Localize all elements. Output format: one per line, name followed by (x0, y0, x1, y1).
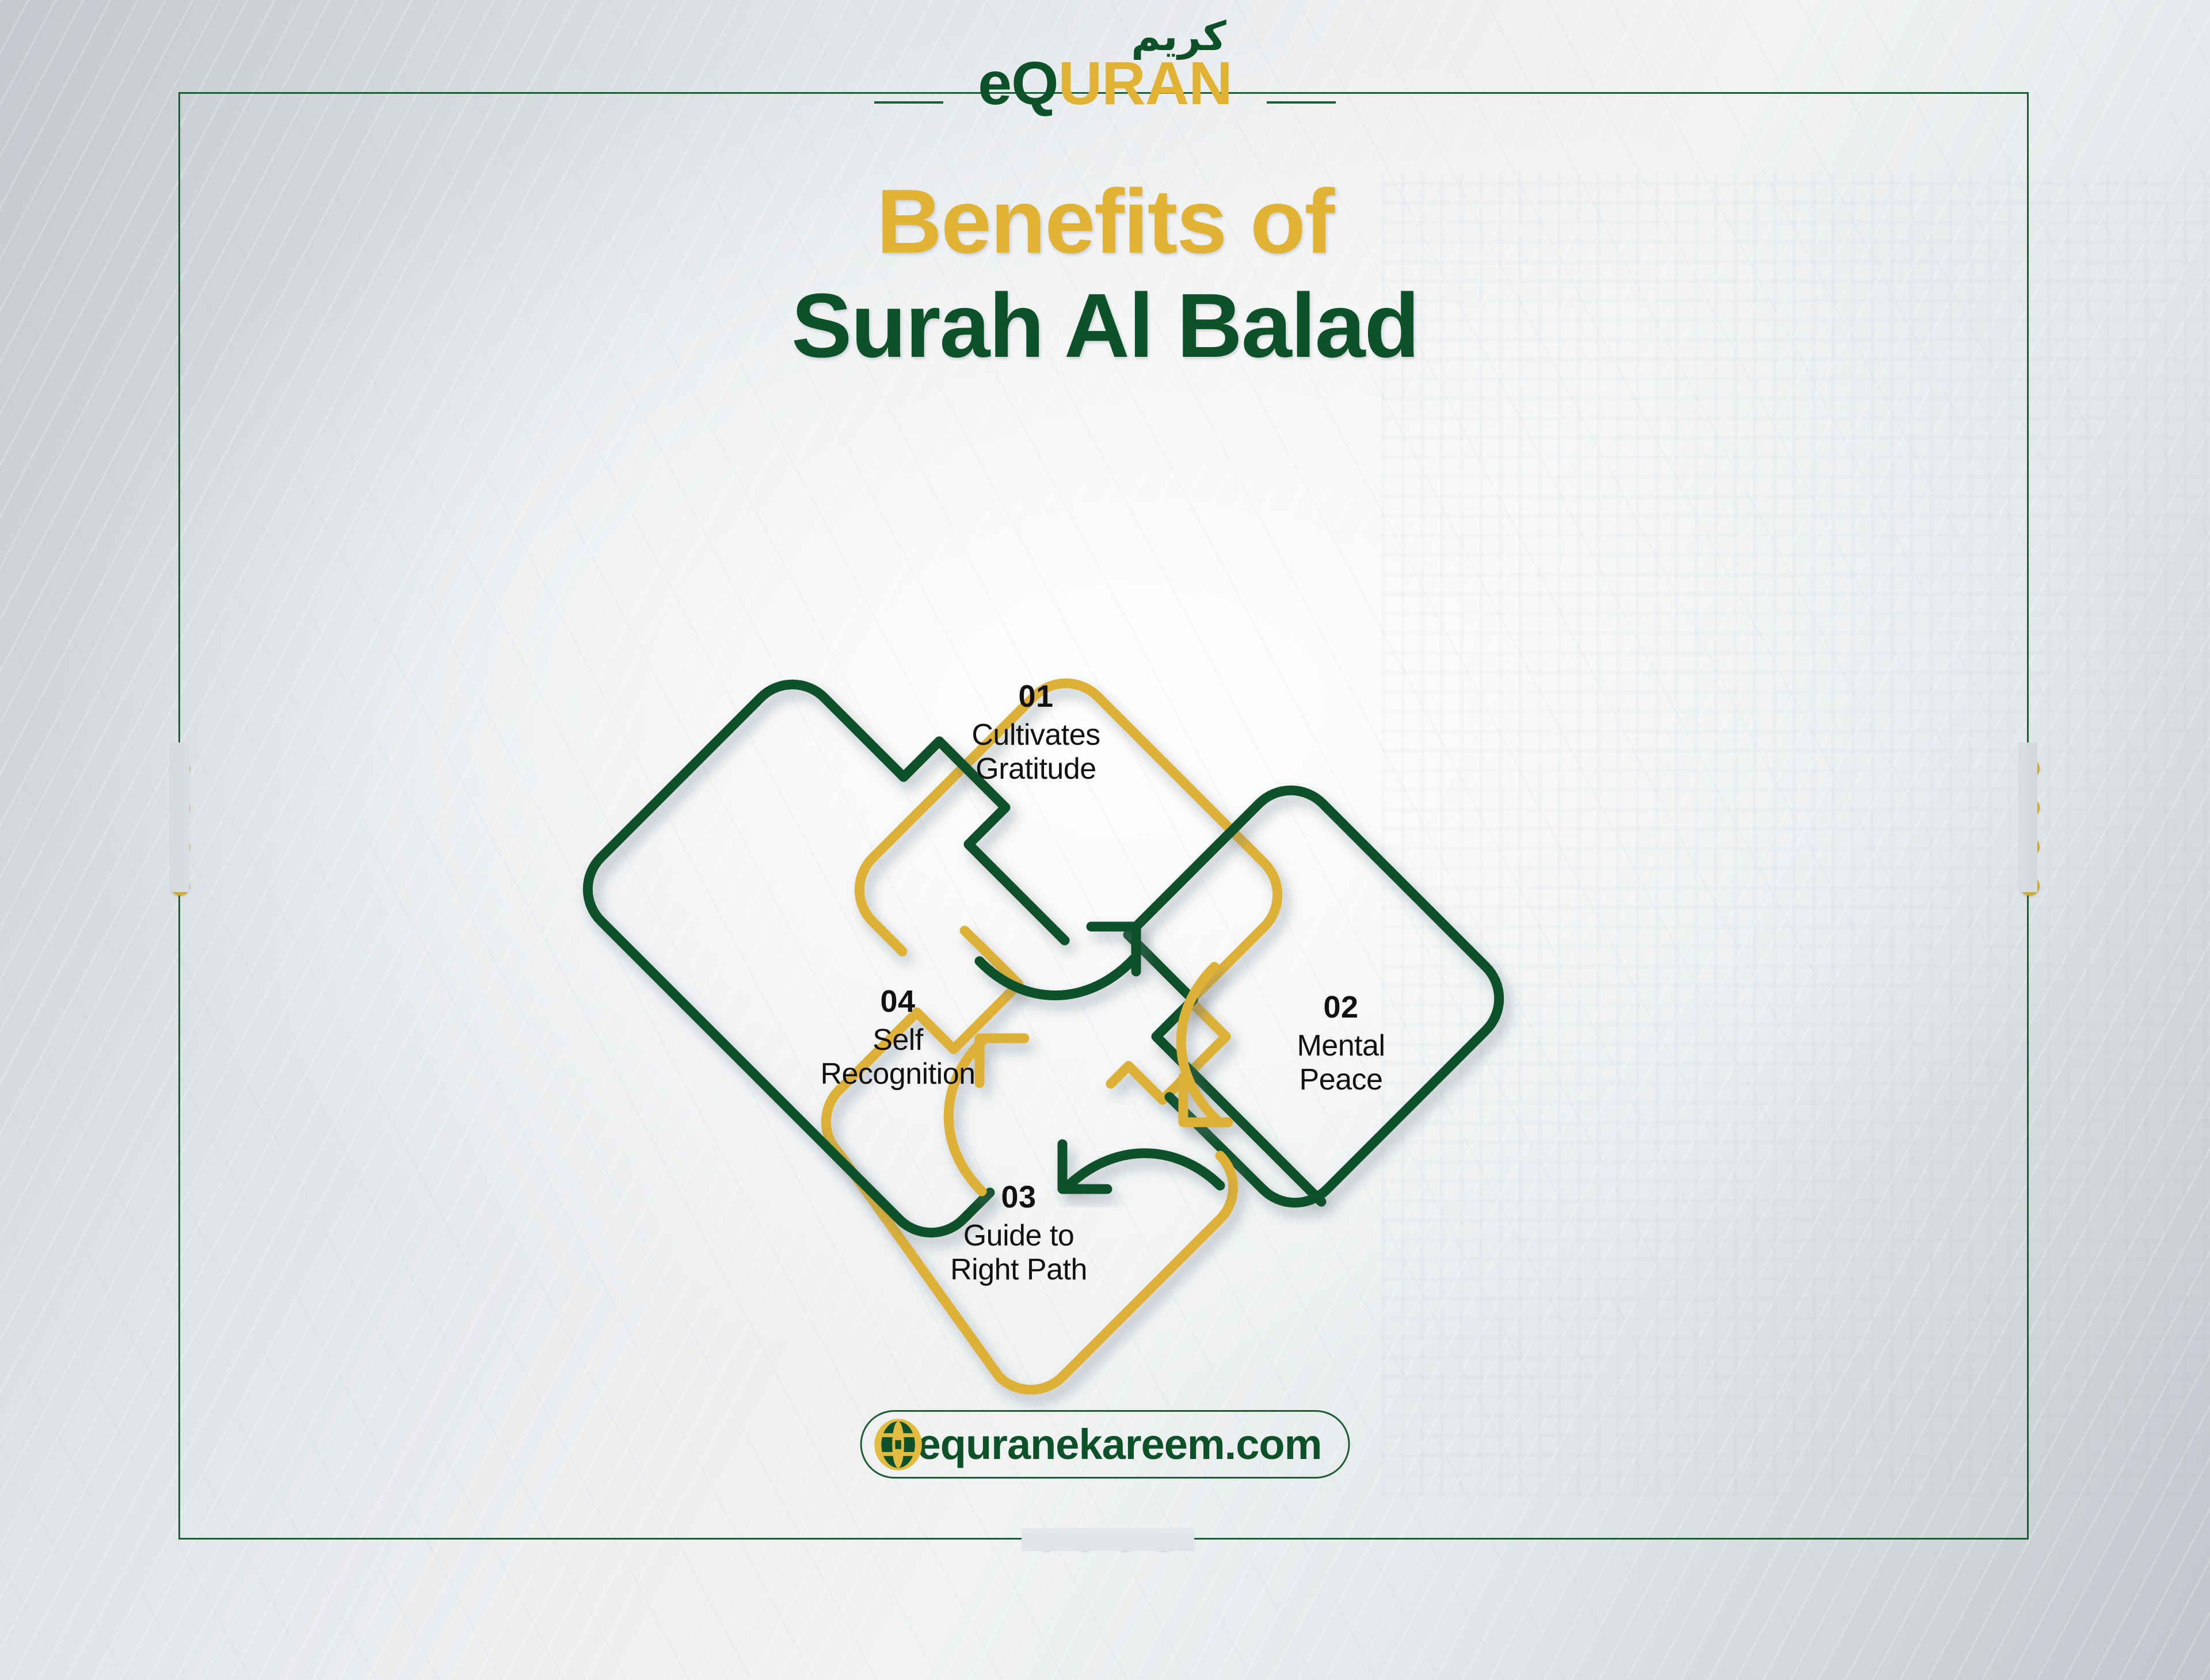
page-title: Benefits of Surah Al Balad (0, 173, 2210, 375)
diamond-node-01[interactable] (859, 683, 1277, 1100)
logo-arabic-text: كريم (1131, 16, 1226, 56)
frame-gap-right (2018, 742, 2037, 892)
brand-logo: كريم eQURAN (0, 17, 2210, 150)
logo-letter-e: e (978, 49, 1011, 117)
frame-gap-bottom (1022, 1528, 1194, 1551)
title-line-1: Benefits of (0, 173, 2210, 271)
diagram-svg (552, 472, 1681, 1439)
diamond-node-02[interactable] (1128, 790, 1499, 1202)
website-url: equranekareem.com (917, 1420, 1322, 1469)
globe-icon (874, 1418, 923, 1471)
title-line-2: Surah Al Balad (0, 277, 2210, 375)
logo-letter-q: Q (1011, 49, 1058, 117)
arrow-up-left-icon (948, 1038, 1024, 1191)
website-link[interactable]: equranekareem.com (860, 1410, 1350, 1479)
logo-rule-right-icon (1267, 101, 1336, 104)
benefits-cycle-diagram: 01 Cultivates Gratitude 02 Mental Peace … (552, 472, 1681, 1439)
logo-rule-left-icon (874, 101, 943, 104)
frame-gap-left (170, 742, 189, 892)
arrow-left-icon (1062, 1144, 1220, 1189)
infographic-canvas: كريم eQURAN Benefits of Surah Al Balad (0, 0, 2210, 1680)
